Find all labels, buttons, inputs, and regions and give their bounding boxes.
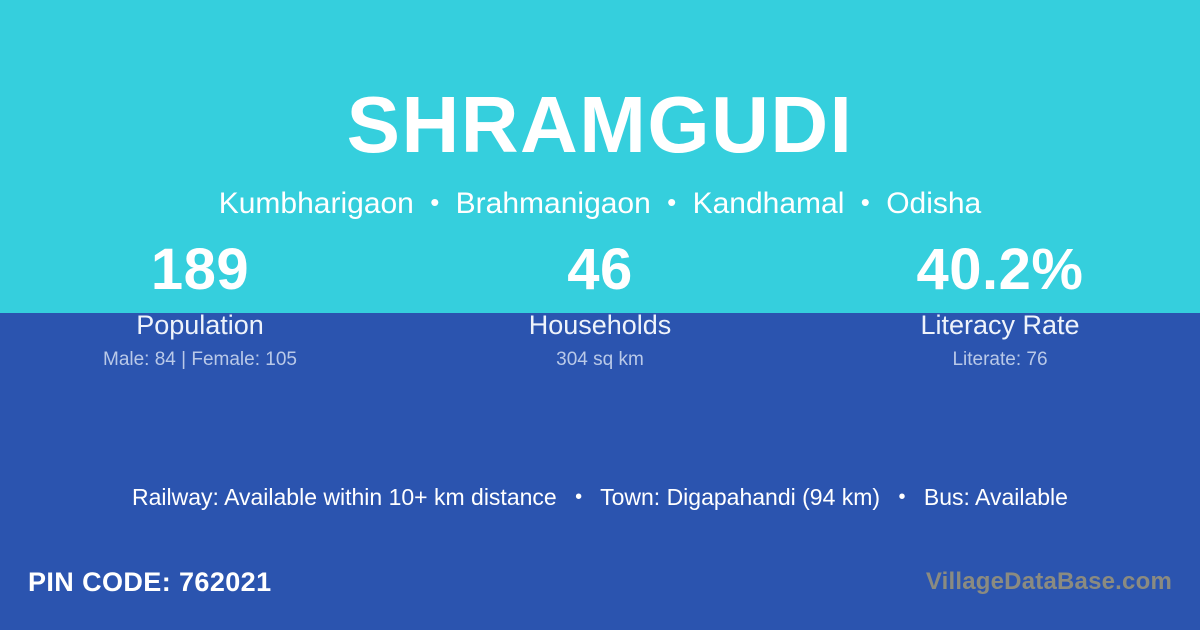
infra-item-bus: Bus: Available [924,484,1068,510]
stat-sublabel: 304 sq km [556,350,644,370]
stat-label: Literacy Rate [920,311,1079,339]
infra-item-town: Town: Digapahandi (94 km) [600,484,880,510]
pin-code: PIN CODE: 762021 [28,567,272,598]
site-watermark: VillageDataBase.com [926,568,1172,596]
stat-sublabel: Literate: 76 [952,350,1047,370]
infra-separator: • [886,486,917,508]
card-footer: PIN CODE: 762021 VillageDataBase.com [0,548,1200,630]
breadcrumb-separator: • [659,187,684,217]
breadcrumb-item-district: Kandhamal [693,187,845,220]
stat-population: 189 Population Male: 84 | Female: 105 [0,238,400,370]
village-info-card: SHRAMGUDI Kumbharigaon • Brahmanigaon • … [0,0,1200,630]
infra-separator: • [563,486,594,508]
infra-item-railway: Railway: Available within 10+ km distanc… [132,484,557,510]
breadcrumb-separator: • [853,187,878,217]
breadcrumb: Kumbharigaon • Brahmanigaon • Kandhamal … [219,187,982,220]
stat-value: 40.2% [917,238,1084,303]
stats-row: 189 Population Male: 84 | Female: 105 46… [0,238,1200,370]
page-title: SHRAMGUDI [347,85,854,165]
stat-literacy-rate: 40.2% Literacy Rate Literate: 76 [800,238,1200,370]
stat-value: 46 [567,238,633,303]
stat-sublabel: Male: 84 | Female: 105 [103,350,297,370]
stat-label: Population [136,311,264,339]
breadcrumb-item-village: Kumbharigaon [219,187,414,220]
stat-households: 46 Households 304 sq km [400,238,800,370]
breadcrumb-item-block: Brahmanigaon [456,187,651,220]
breadcrumb-item-state: Odisha [886,187,981,220]
breadcrumb-separator: • [422,187,447,217]
card-header: SHRAMGUDI Kumbharigaon • Brahmanigaon • … [0,0,1200,232]
stat-label: Households [529,311,672,339]
stat-value: 189 [151,238,249,303]
infrastructure-line: Railway: Available within 10+ km distanc… [0,484,1200,512]
